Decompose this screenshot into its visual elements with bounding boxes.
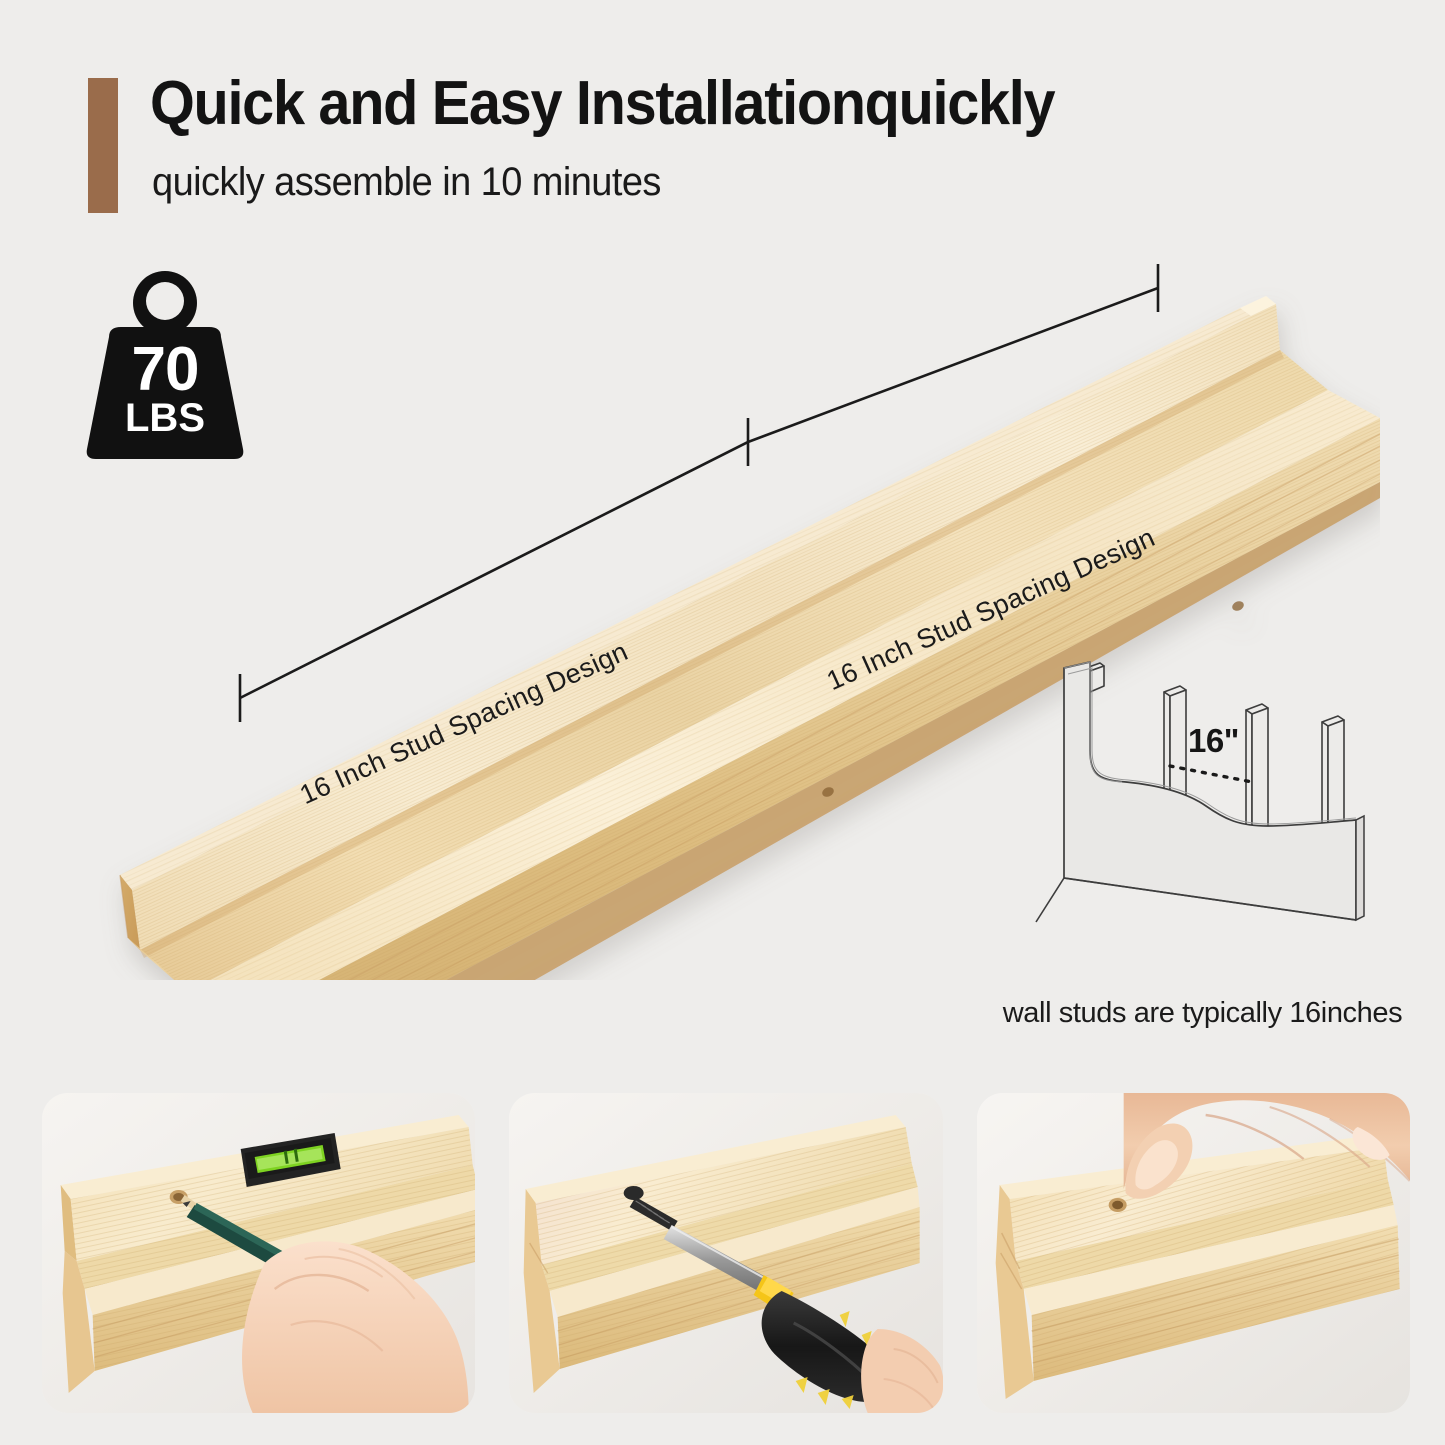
pencil-marking-with-level-photo-icon <box>42 1093 475 1413</box>
photo-card-hand-mounting <box>977 1093 1410 1413</box>
stud-diagram-caption: wall studs are typically 16inches <box>990 997 1415 1030</box>
wall-stud-cutaway-diagram-icon <box>1000 630 1400 960</box>
wall-stud-diagram: 16" <box>1000 630 1400 960</box>
page-subtitle: quickly assemble in 10 minutes <box>152 160 661 205</box>
photo-card-screwdriver <box>509 1093 942 1413</box>
stud <box>1322 716 1344 828</box>
hand-mounting-shelf-photo-icon <box>977 1093 1410 1413</box>
screwdriver-driving-screw-photo-icon <box>509 1093 942 1413</box>
accent-bar <box>88 78 118 213</box>
installation-steps-photo-row <box>42 1093 1410 1413</box>
header: Quick and Easy Installationquickly quick… <box>88 72 1388 222</box>
drywall-sheet <box>1036 662 1364 922</box>
page-title: Quick and Easy Installationquickly <box>150 68 1054 139</box>
stud-spacing-label: 16" <box>1188 722 1239 760</box>
stud <box>1246 704 1268 834</box>
photo-card-pencil-marking <box>42 1093 475 1413</box>
infographic-page: Quick and Easy Installationquickly quick… <box>0 0 1445 1445</box>
